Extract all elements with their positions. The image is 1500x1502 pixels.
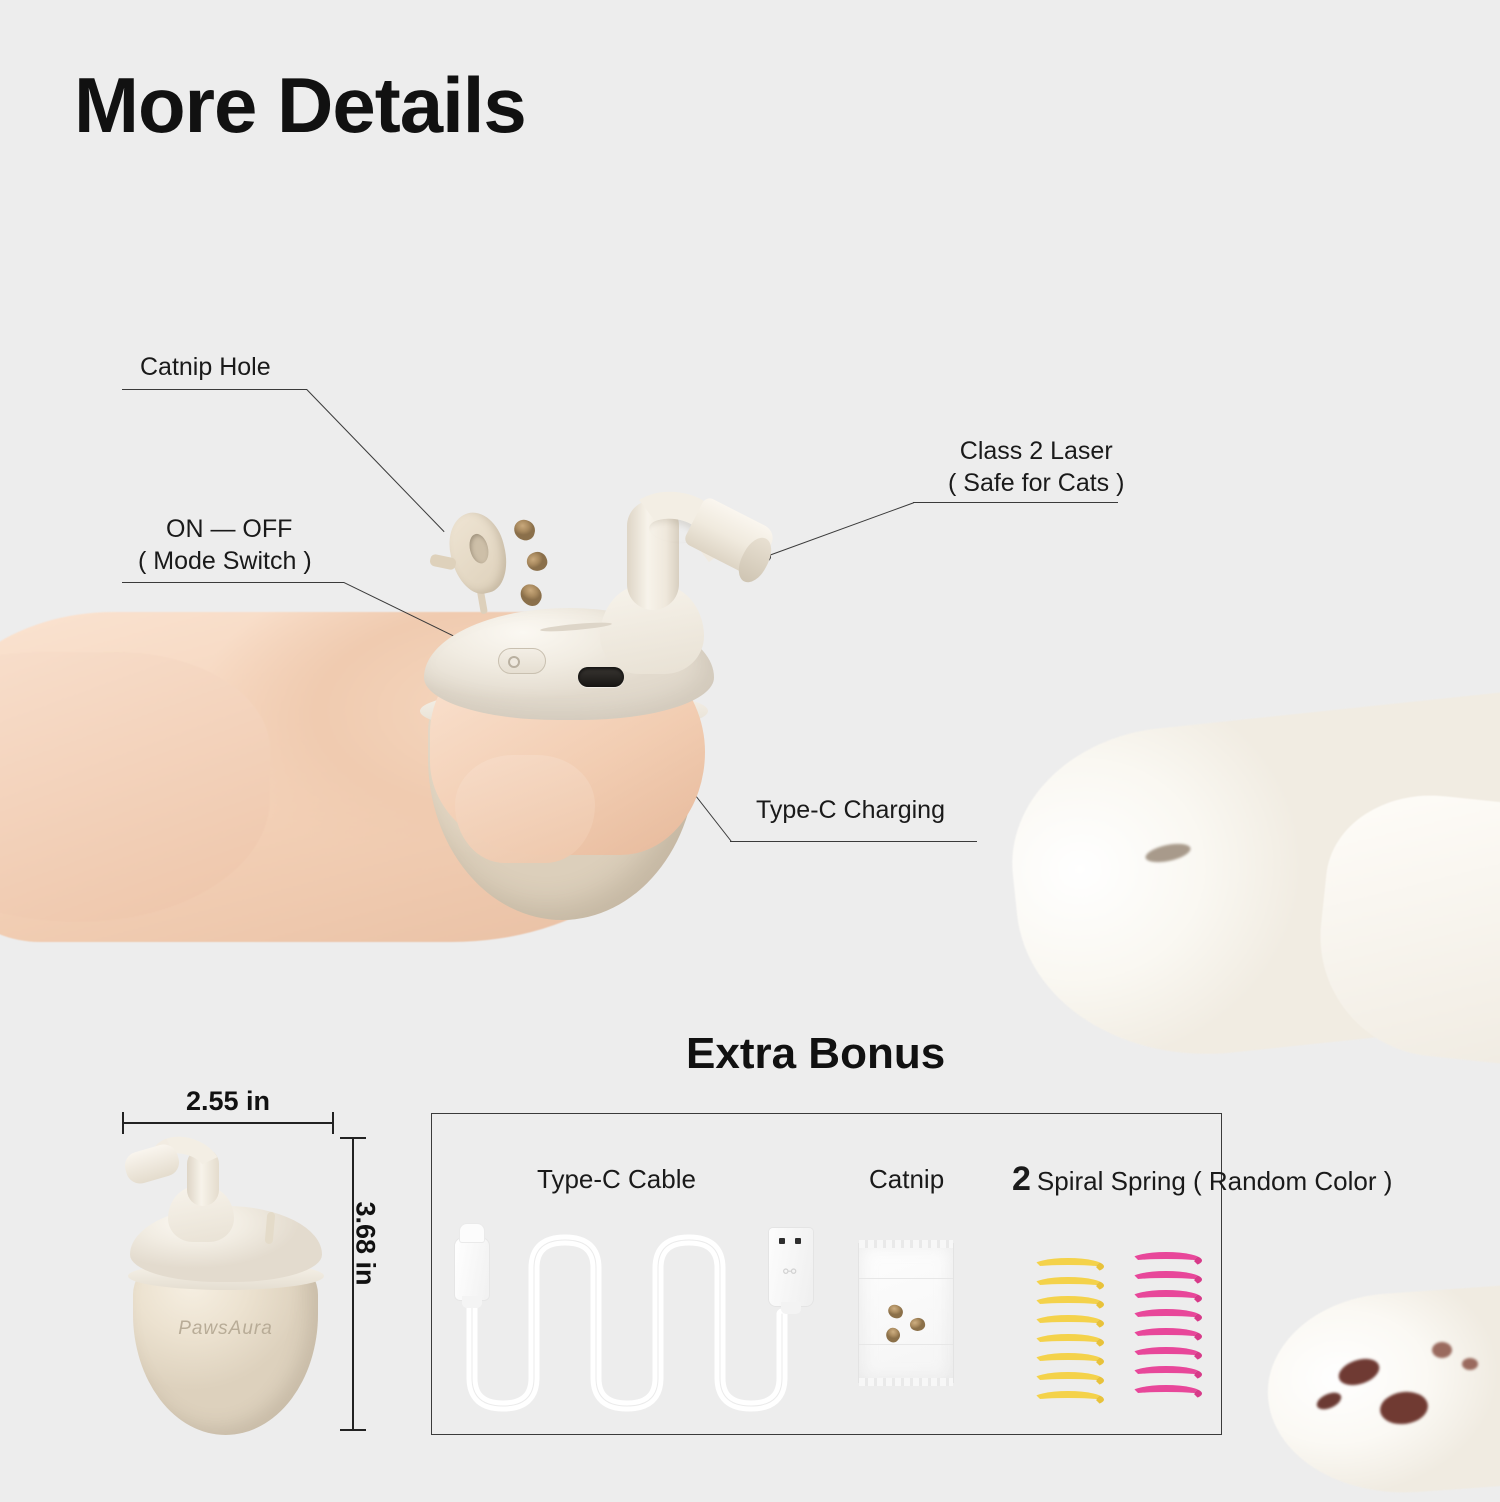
bonus-title: Extra Bonus bbox=[686, 1030, 945, 1078]
spiral-spring-pink bbox=[1130, 1252, 1202, 1402]
leader-line-type-c-horizontal bbox=[730, 841, 977, 842]
bonus-label-type-c-cable: Type-C Cable bbox=[537, 1163, 696, 1196]
pouch-crimp-bottom bbox=[859, 1378, 953, 1386]
catnip-pellet bbox=[516, 580, 545, 609]
paw-bean bbox=[1462, 1358, 1478, 1370]
catnip-pellet bbox=[524, 549, 550, 574]
dimension-width-endcap-right bbox=[332, 1112, 334, 1134]
leader-line-laser-horizontal bbox=[913, 502, 1118, 503]
catnip-hole-lid[interactable] bbox=[442, 507, 514, 600]
catnip-pellet bbox=[512, 518, 537, 543]
pouch-seam bbox=[859, 1278, 953, 1279]
dimension-width-line bbox=[122, 1122, 333, 1124]
leader-line-catnip-hole-diagonal bbox=[306, 389, 444, 532]
usb-c-connector-icon bbox=[455, 1238, 489, 1300]
mode-switch-button[interactable] bbox=[498, 648, 546, 674]
usb-a-connector-icon: ⚯ bbox=[769, 1228, 813, 1306]
cat-paw-lower bbox=[1261, 1282, 1500, 1502]
leader-line-mode-switch-horizontal bbox=[122, 582, 344, 583]
catnip-pouch bbox=[858, 1243, 954, 1383]
callout-label-catnip-hole: Catnip Hole bbox=[140, 352, 271, 384]
dimension-height-endcap-top bbox=[340, 1137, 366, 1139]
usb-logo-icon: ⚯ bbox=[783, 1262, 796, 1282]
bonus-label-spiral-spring: 2Spiral Spring ( Random Color ) bbox=[1012, 1158, 1392, 1201]
dimension-height-endcap-bottom bbox=[340, 1429, 366, 1431]
spiral-spring-yellow bbox=[1032, 1258, 1104, 1408]
dimension-width-label: 2.55 in bbox=[122, 1086, 334, 1117]
type-c-charging-port bbox=[578, 667, 624, 687]
callout-label-laser: Class 2 Laser ( Safe for Cats ) bbox=[948, 436, 1124, 499]
brand-logo-text: PawsAura bbox=[133, 1318, 318, 1340]
hand-thumbnail bbox=[455, 755, 595, 863]
callout-label-mode-switch: ON — OFF ( Mode Switch ) bbox=[166, 514, 312, 577]
pouch-crimp-top bbox=[859, 1240, 953, 1248]
infographic-canvas: More Details Catnip Hole ON — OFF ( Mode… bbox=[0, 0, 1500, 1500]
cat-paw-upper bbox=[999, 687, 1500, 1074]
paw-bean bbox=[1432, 1342, 1452, 1358]
dimension-width-endcap-left bbox=[122, 1112, 124, 1134]
leader-line-laser-diagonal bbox=[766, 502, 914, 557]
pouch-seam bbox=[859, 1344, 953, 1345]
leader-line-catnip-hole-horizontal bbox=[122, 389, 307, 390]
bonus-label-catnip: Catnip bbox=[869, 1163, 944, 1196]
catnip-hole-opening bbox=[467, 532, 492, 565]
dimension-height-label: 3.68 in bbox=[350, 1184, 381, 1304]
page-title: More Details bbox=[74, 66, 526, 144]
type-c-cable-illustration: ⚯ bbox=[443, 1228, 828, 1428]
callout-label-type-c-charging: Type-C Charging bbox=[756, 795, 945, 827]
usb-a-pins bbox=[777, 1238, 805, 1246]
